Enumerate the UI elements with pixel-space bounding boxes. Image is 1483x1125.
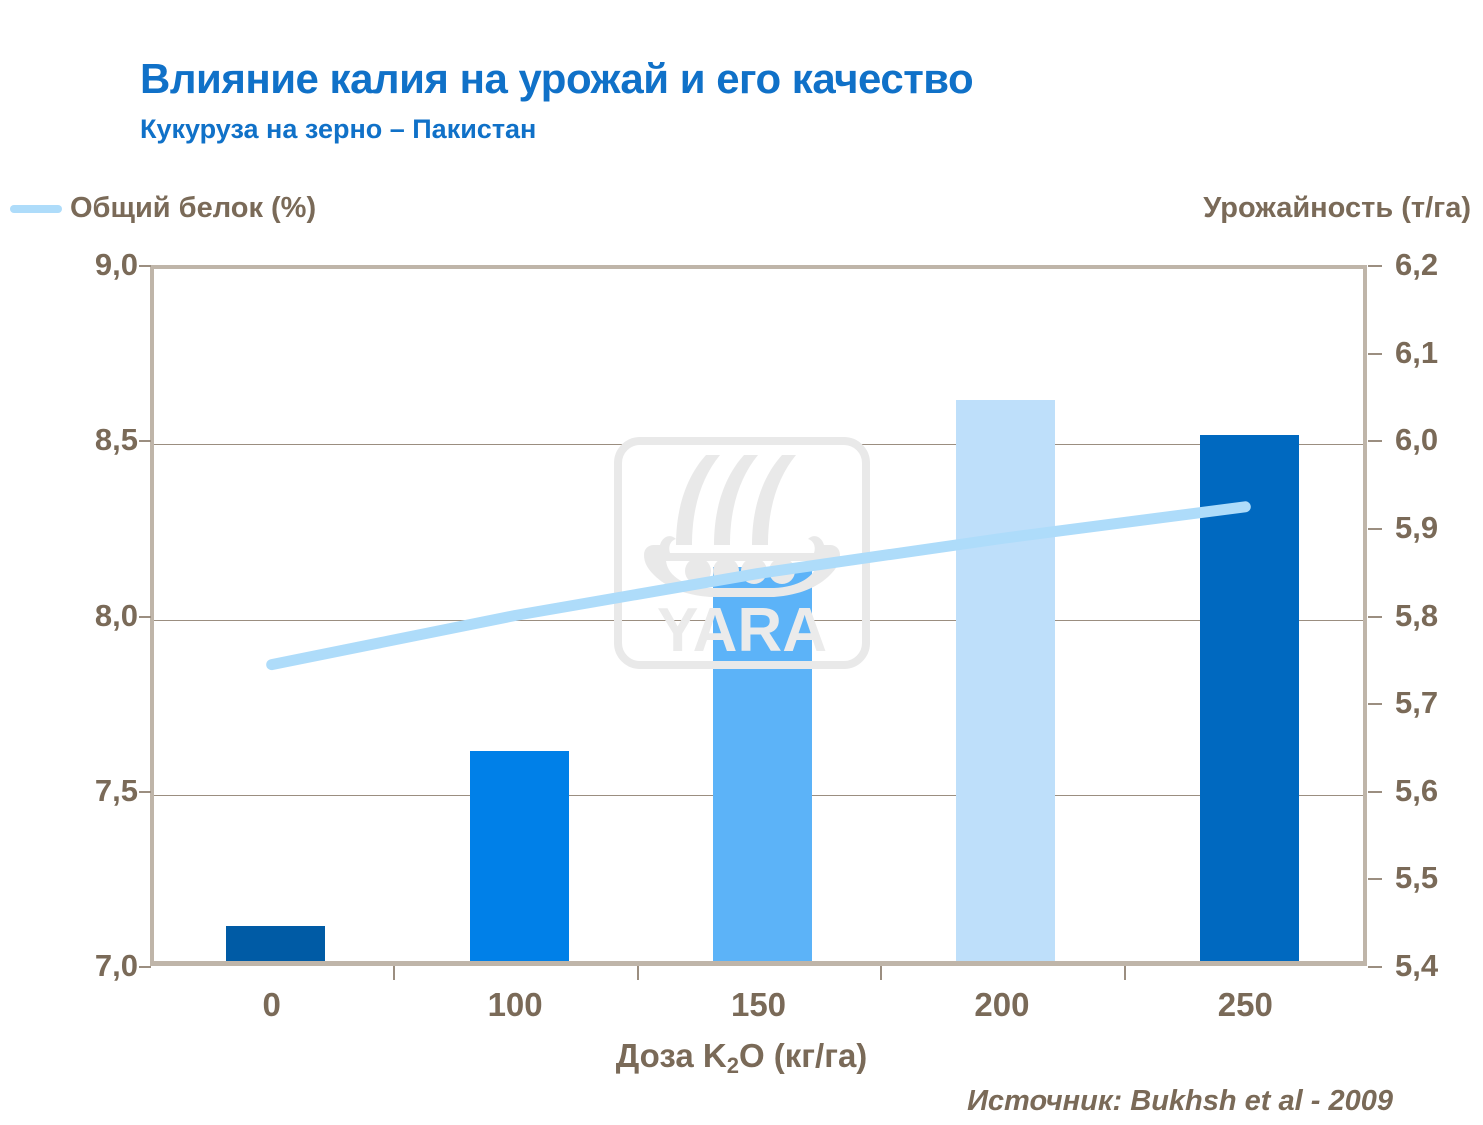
bar-0 xyxy=(226,926,325,961)
y-axis-right-tickmark xyxy=(1368,703,1382,705)
y-axis-right-tick-5-7: 5,7 xyxy=(1395,685,1438,721)
y-axis-left-tickmark xyxy=(139,440,151,442)
x-axis-tickmark xyxy=(393,966,395,980)
y-axis-right-tickmark xyxy=(1368,528,1382,530)
y-axis-right-tick-5-6: 5,6 xyxy=(1395,773,1438,809)
bar-150 xyxy=(713,567,812,961)
x-axis-tickmark xyxy=(637,966,639,980)
y-axis-left-tickmark xyxy=(139,966,151,968)
y-axis-left-tickmark xyxy=(139,791,151,793)
y-axis-right-tick-5-4: 5,4 xyxy=(1395,948,1438,984)
y-axis-left-tick-8-0: 8,0 xyxy=(95,598,138,634)
page-title: Влияние калия на урожай и его качество xyxy=(140,55,973,103)
y-axis-right-tick-6-0: 6,0 xyxy=(1395,422,1438,458)
gridline xyxy=(154,444,1363,445)
y-axis-right-tickmark xyxy=(1368,440,1382,442)
y-axis-right-tickmark xyxy=(1368,878,1382,880)
bar-200 xyxy=(956,400,1055,961)
x-axis-title: Доза K2O (кг/га) xyxy=(0,1037,1483,1075)
y-axis-right-tick-5-9: 5,9 xyxy=(1395,510,1438,546)
y-axis-left-tickmark xyxy=(139,265,151,267)
y-axis-left-tick-7-0: 7,0 xyxy=(95,948,138,984)
y-axis-left-tick-7-5: 7,5 xyxy=(95,773,138,809)
y-axis-right-tick-5-8: 5,8 xyxy=(1395,598,1438,634)
legend-label-protein: Общий белок (%) xyxy=(70,192,316,225)
source-note: Источник: Bukhsh et al - 2009 xyxy=(967,1085,1393,1118)
x-axis-tick-200: 200 xyxy=(974,986,1029,1024)
x-axis-tick-0: 0 xyxy=(263,986,281,1024)
plot-area xyxy=(150,265,1367,966)
x-axis-title-post: O (кг/га) xyxy=(739,1037,867,1074)
y-axis-right-tick-5-5: 5,5 xyxy=(1395,860,1438,896)
x-axis-title-subscript: 2 xyxy=(727,1053,739,1078)
y-axis-left-tickmark xyxy=(139,616,151,618)
x-axis-tick-250: 250 xyxy=(1218,986,1273,1024)
y-axis-left-tick-8-5: 8,5 xyxy=(95,422,138,458)
x-axis-tick-150: 150 xyxy=(731,986,786,1024)
x-axis-tick-100: 100 xyxy=(488,986,543,1024)
x-axis-tickmark xyxy=(880,966,882,980)
legend-item-protein: Общий белок (%) xyxy=(10,192,316,225)
x-axis-tickmark xyxy=(1124,966,1126,980)
bar-100 xyxy=(470,751,569,961)
legend-line-swatch-icon xyxy=(10,205,62,213)
y-axis-left-tick-9-0: 9,0 xyxy=(95,247,138,283)
y-axis-right-tick-6-1: 6,1 xyxy=(1395,335,1438,371)
legend-label-yield: Урожайность (т/га) xyxy=(1203,192,1471,225)
bar-250 xyxy=(1200,435,1299,961)
y-axis-right-tickmark xyxy=(1368,353,1382,355)
y-axis-right-tickmark xyxy=(1368,265,1382,267)
y-axis-right-tickmark xyxy=(1368,791,1382,793)
x-axis-title-pre: Доза K xyxy=(616,1037,727,1074)
y-axis-right-tick-6-2: 6,2 xyxy=(1395,247,1438,283)
y-axis-right-tickmark xyxy=(1368,616,1382,618)
y-axis-right-tickmark xyxy=(1368,966,1382,968)
page-subtitle: Кукуруза на зерно – Пакистан xyxy=(140,114,536,145)
